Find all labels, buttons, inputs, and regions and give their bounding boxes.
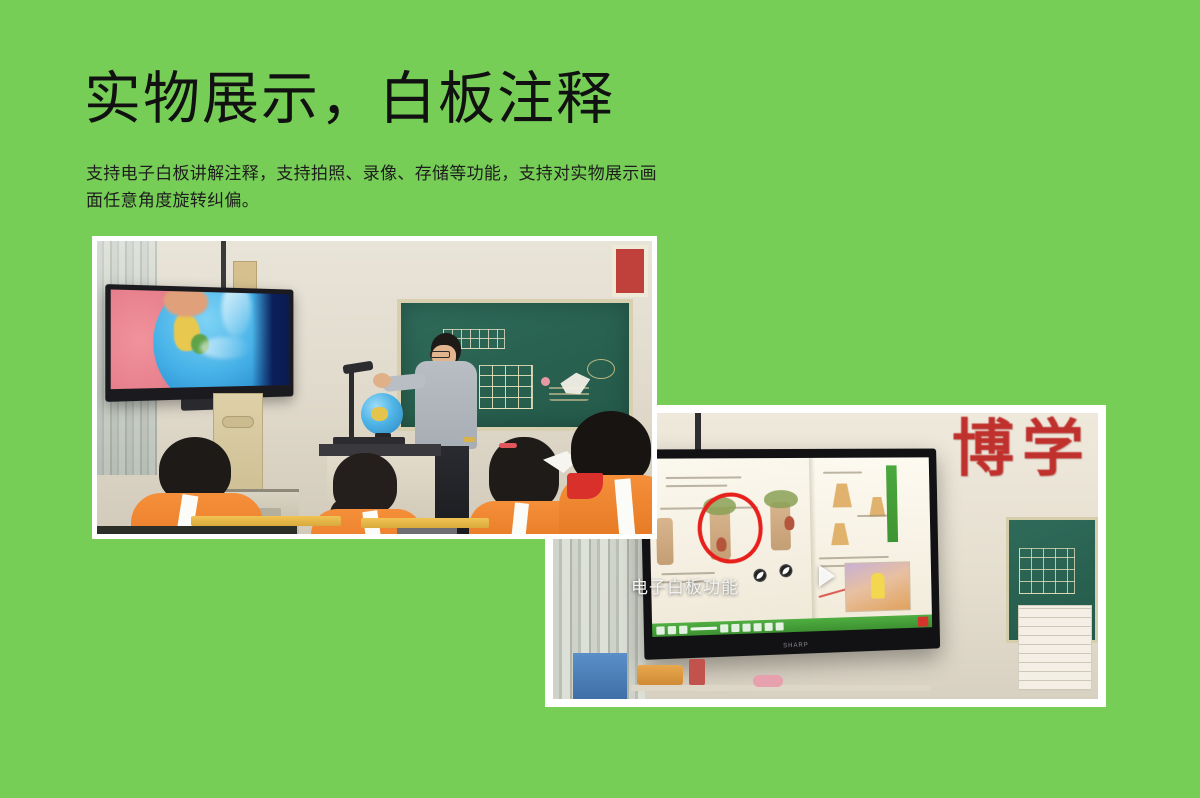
textbook-photo-inset <box>844 561 911 612</box>
thickness-slider[interactable] <box>690 627 717 631</box>
whiteboard-screen <box>649 457 933 637</box>
student-desk <box>361 518 489 528</box>
teacher-body <box>415 361 477 449</box>
desk-globe <box>361 393 403 435</box>
display-brand-label: SHARP <box>783 642 809 649</box>
lower-shelf <box>631 685 931 691</box>
save-tool-icon[interactable] <box>765 622 773 630</box>
desk-items <box>637 665 683 685</box>
visualizer-arm <box>349 369 354 439</box>
tree-trunk-illustration <box>656 518 674 565</box>
student-hair <box>489 437 559 509</box>
interactive-whiteboard: SHARP <box>640 449 940 660</box>
student-far-right <box>565 411 652 534</box>
globe-highlight-secondary <box>200 337 251 360</box>
display-dark-area <box>253 293 289 386</box>
handwriting-line <box>823 471 862 473</box>
play-triangle-icon[interactable] <box>819 565 835 587</box>
pen-tool-icon[interactable] <box>656 626 664 634</box>
wall-display <box>105 284 293 402</box>
page-title: 实物展示，白板注释 <box>84 64 615 134</box>
cabinet-vent <box>222 416 254 428</box>
video-caption-label: 电子白板功能 <box>631 573 739 598</box>
student-desk <box>191 516 341 526</box>
woodpecker-illustration <box>784 516 794 530</box>
undo-tool-icon[interactable] <box>731 623 739 631</box>
hand-in-frame <box>164 289 207 316</box>
desk-items <box>689 659 705 685</box>
wall-slogan-text: 博学 <box>952 419 1092 481</box>
student-uniform-stripe <box>511 502 529 534</box>
eraser-tool-icon[interactable] <box>668 625 676 633</box>
classroom-visualizer-photo <box>97 241 652 534</box>
foreground-object <box>573 653 627 699</box>
chalk-circle-mark <box>587 359 615 379</box>
student-hairclip <box>499 443 517 448</box>
display-screen <box>111 289 289 389</box>
wall-poster <box>612 245 648 297</box>
chalk-grid-main <box>479 365 533 409</box>
page-subtitle: 支持电子白板讲解注释，支持拍照、录像、存储等功能，支持对实物展示画面任意角度旋转… <box>86 160 666 214</box>
tree-leaves <box>764 490 798 508</box>
chalk-dot-mark <box>541 377 550 386</box>
settings-tool-icon[interactable] <box>776 622 784 630</box>
illustration-figure <box>871 573 885 599</box>
redo-tool-icon[interactable] <box>742 623 750 631</box>
desk-globe-land <box>371 407 388 421</box>
foreground-shadow <box>97 526 297 534</box>
capture-tool-icon[interactable] <box>753 623 761 631</box>
shape-tool-icon[interactable] <box>679 625 687 633</box>
desk-items <box>753 675 783 687</box>
teacher-hand <box>373 373 391 388</box>
wall-chart-paper <box>1018 605 1092 691</box>
globe-highlight <box>221 289 251 336</box>
teacher-glasses <box>430 351 450 358</box>
app-side-strip <box>886 465 898 542</box>
chalk-grid <box>1019 548 1075 594</box>
close-toolbar-button[interactable] <box>918 616 929 626</box>
classroom-scene <box>97 241 652 534</box>
color-tool-icon[interactable] <box>720 624 728 632</box>
